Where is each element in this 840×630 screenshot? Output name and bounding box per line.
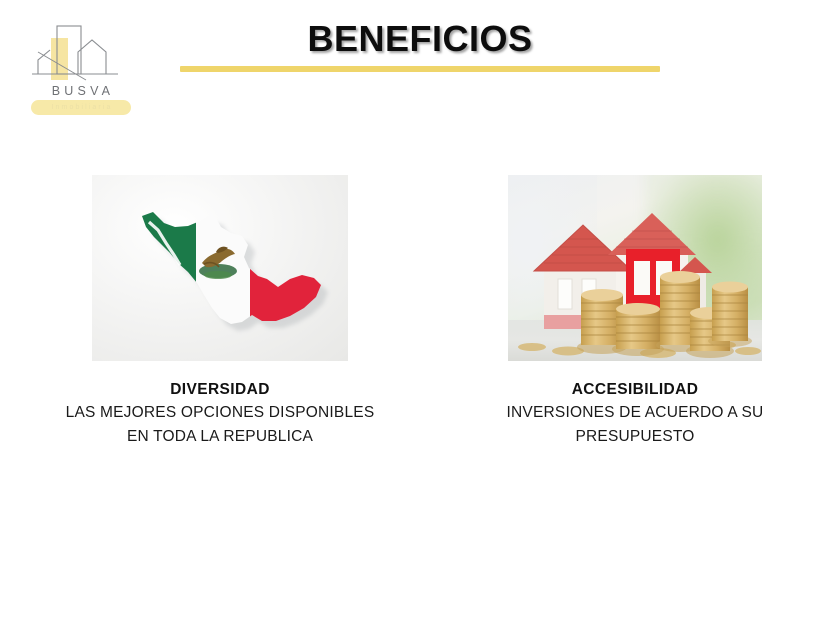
coin-stacks-icon [508, 175, 762, 361]
mexico-map-flag-image [92, 175, 348, 361]
brand-logo[interactable]: BUSVA Inmobiliaria [26, 22, 136, 122]
benefit-description-diversidad-line1: LAS MEJORES OPCIONES DISPONIBLES [14, 401, 426, 424]
coin-stack-2 [612, 303, 664, 356]
benefit-card-diversidad: DIVERSIDAD LAS MEJORES OPCIONES DISPONIB… [14, 175, 426, 448]
benefit-description-accesibilidad-line1: INVERSIONES DE ACUERDO A SU [440, 401, 830, 424]
slide-canvas: BUSVA Inmobiliaria BENEFICIOS [0, 0, 840, 630]
title-divider [180, 66, 660, 72]
brand-name: BUSVA [26, 84, 136, 98]
page-title: BENEFICIOS [170, 18, 670, 60]
benefit-card-accesibilidad: ACCESIBILIDAD INVERSIONES DE ACUERDO A S… [440, 175, 830, 448]
benefit-description-diversidad-line2: EN TODA LA REPUBLICA [14, 425, 426, 448]
benefit-heading-accesibilidad: ACCESIBILIDAD [440, 379, 830, 400]
benefit-heading-diversidad: DIVERSIDAD [14, 379, 426, 400]
coin-stack-5 [708, 282, 752, 348]
house-and-coins-image [508, 175, 762, 361]
buildings-logo-icon [26, 22, 136, 84]
brand-tagline: Inmobiliaria [31, 102, 131, 113]
benefit-description-accesibilidad-line2: PRESUPUESTO [440, 425, 830, 448]
mexico-flag-map-shape [92, 175, 348, 361]
